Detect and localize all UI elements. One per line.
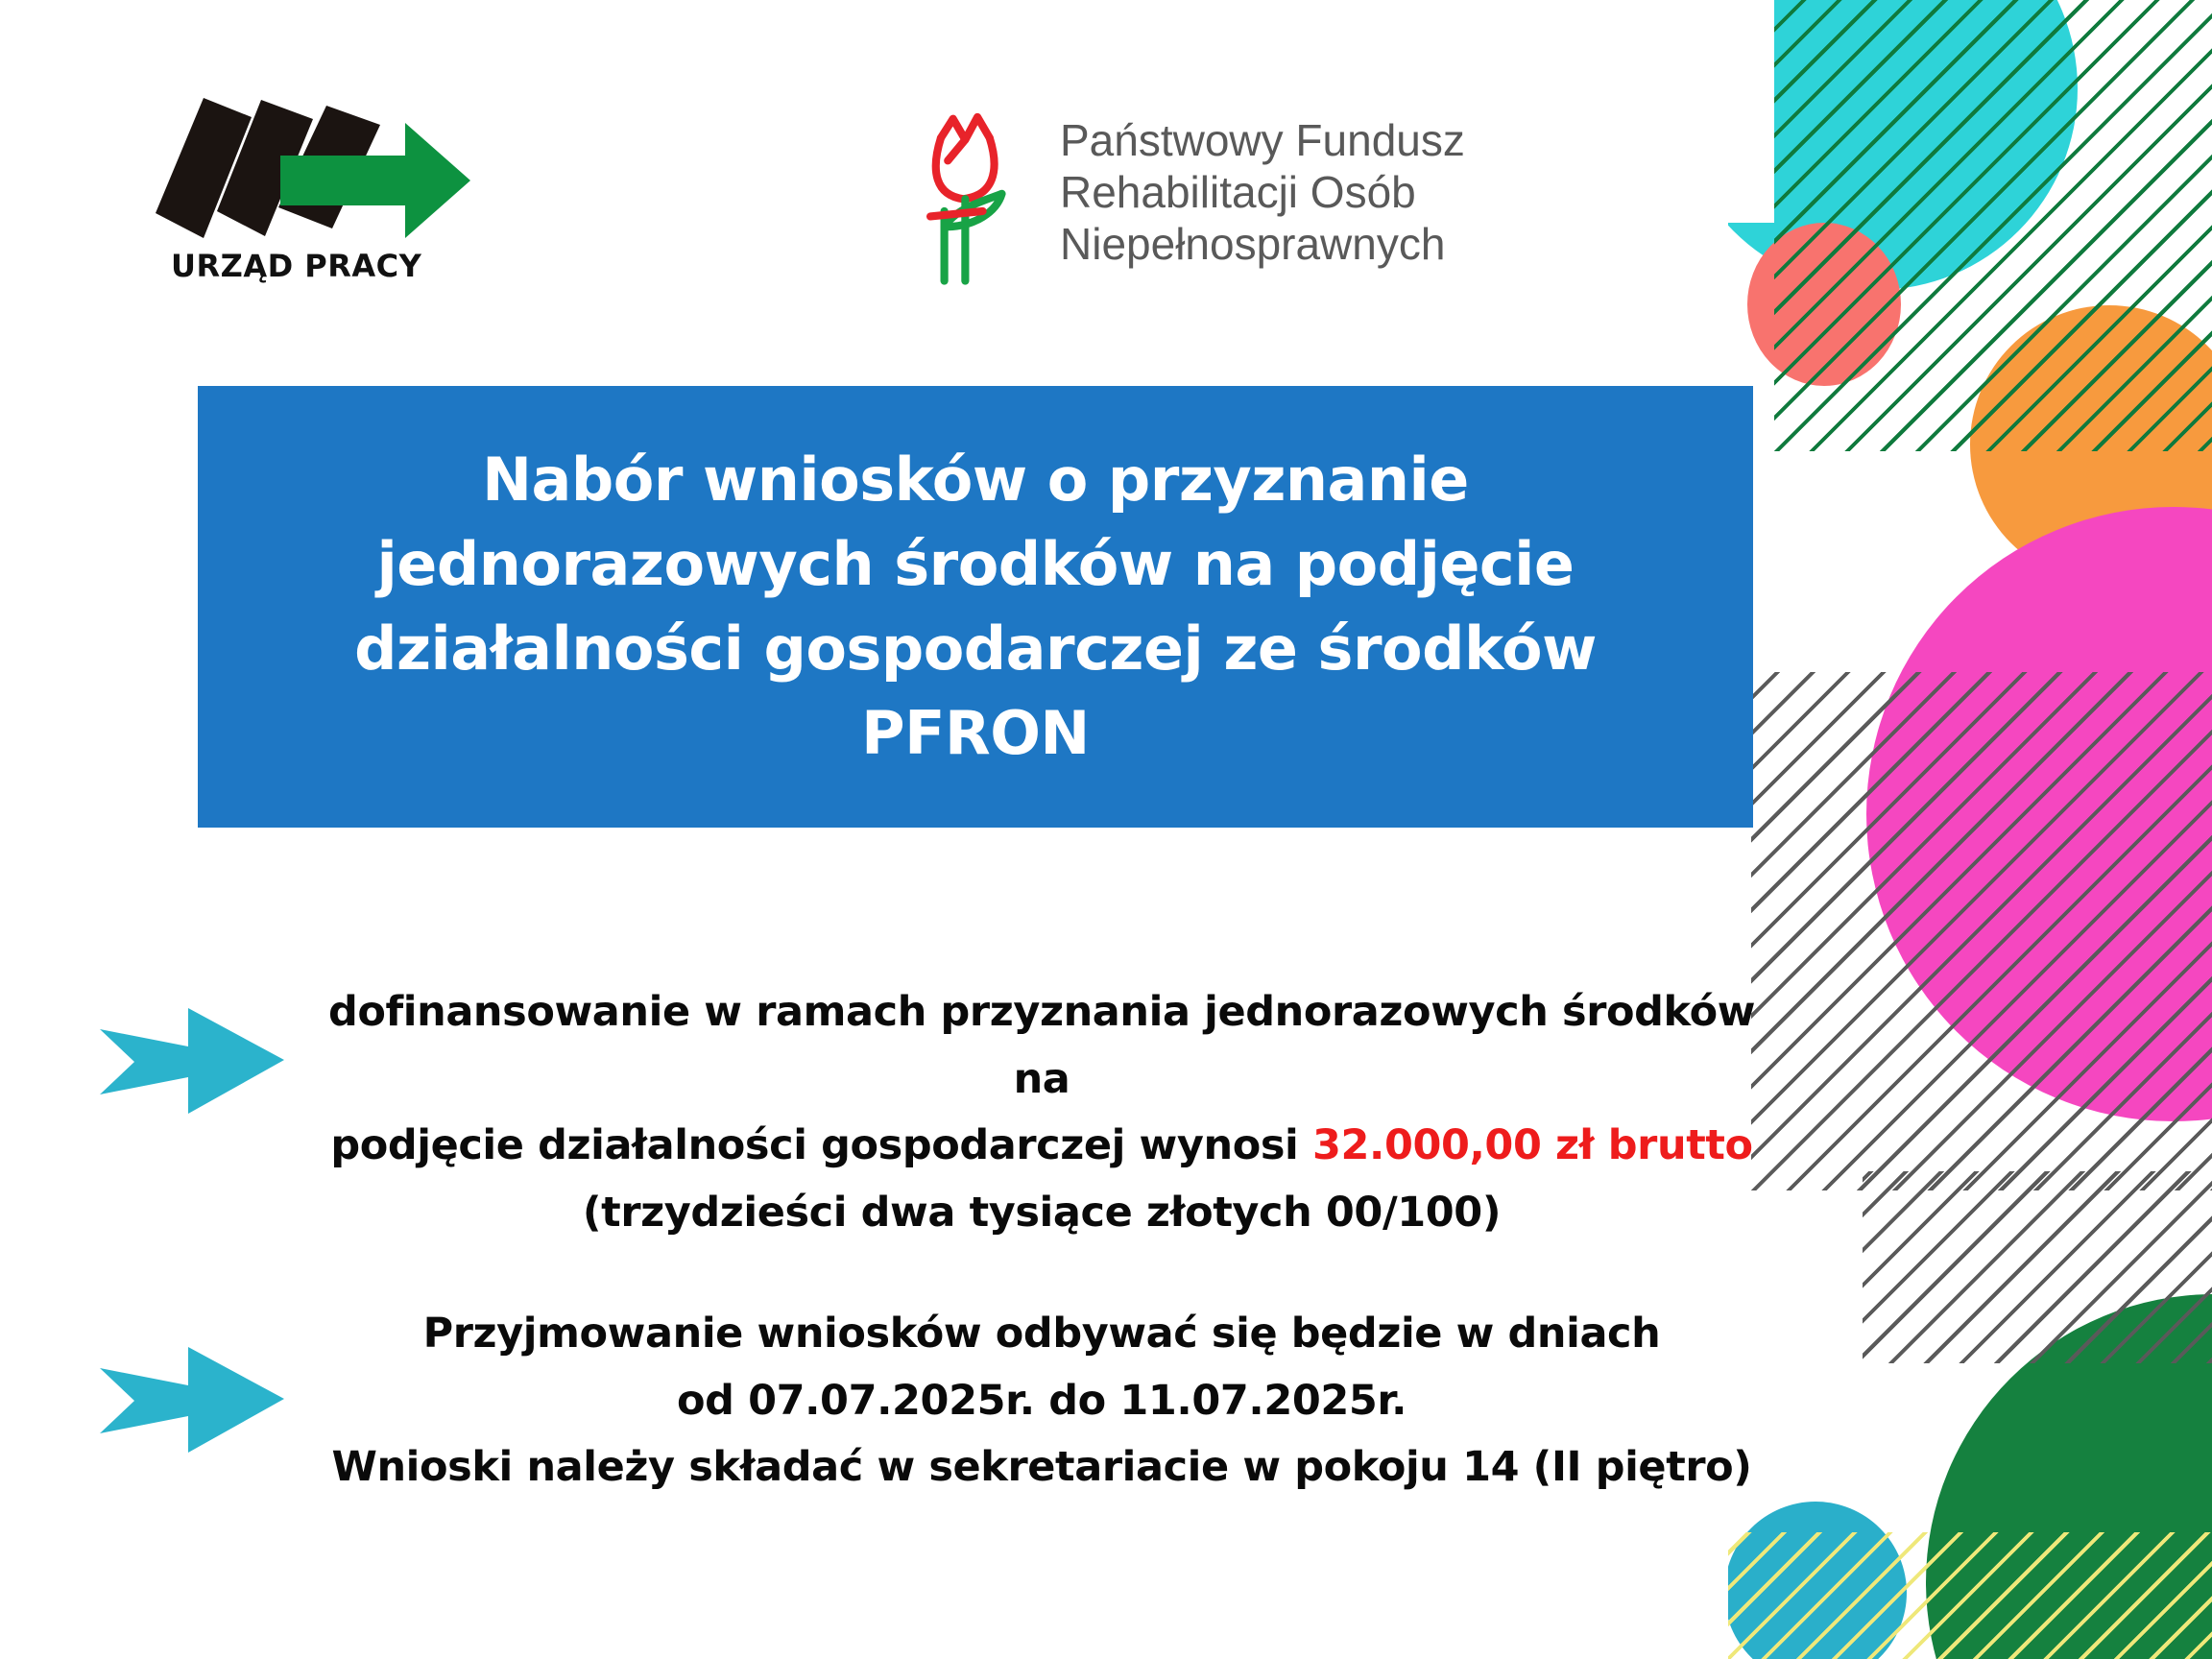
funding-amount-text: dofinansowanie w ramach przyznania jedno…: [317, 979, 1767, 1247]
orange-circle-decoration: [1970, 305, 2212, 584]
green-circle-decoration: [1926, 1294, 2212, 1659]
pfron-logo: Państwowy Fundusz Rehabilitacji Osób Nie…: [922, 86, 1517, 298]
green-hatch-decoration: [1774, 0, 2212, 451]
coral-circle-decoration: [1747, 223, 1901, 386]
grey-hatch-lower-decoration: [1863, 1171, 2212, 1363]
pfron-tulip-icon: [922, 96, 1035, 288]
submission-dates-text: Przyjmowanie wniosków odbywać się będzie…: [317, 1301, 1767, 1502]
yellow-hatch-decoration: [1728, 1532, 2212, 1659]
arrow-icon-1-wrapper: [96, 979, 317, 1124]
svg-text:URZĄD PRACY: URZĄD PRACY: [171, 248, 422, 284]
funding-amount-block: dofinansowanie w ramach przyznania jedno…: [96, 979, 1767, 1247]
funding-line-1: dofinansowanie w ramach przyznania jedno…: [328, 988, 1755, 1103]
funding-line-3: (trzydzieści dwa tysiące złotych 00/100): [583, 1189, 1501, 1237]
teal-circle-decoration: [1724, 1502, 1907, 1659]
grey-hatch-decoration: [1751, 672, 2212, 1190]
funding-amount-value: 32.000,00 zł brutto: [1312, 1121, 1753, 1169]
announcement-banner: Nabór wniosków o przyznanie jednorazowyc…: [198, 386, 1753, 828]
page-title: Nabór wniosków o przyznanie jednorazowyc…: [284, 438, 1667, 776]
pfron-logo-text: Państwowy Fundusz Rehabilitacji Osób Nie…: [1060, 114, 1465, 271]
dates-line-1: Przyjmowanie wniosków odbywać się będzie…: [423, 1310, 1661, 1358]
urzad-pracy-logo-icon: URZĄD PRACY: [144, 77, 490, 288]
right-arrow-icon: [96, 1343, 288, 1458]
magenta-circle-decoration: [1866, 507, 2212, 1121]
cyan-circle-decoration: [1674, 0, 2078, 290]
arrow-icon-2-wrapper: [96, 1301, 317, 1463]
dates-line-3: Wnioski należy składać w sekretariacie w…: [331, 1443, 1751, 1491]
dates-line-2: od 07.07.2025r. do 11.07.2025r.: [677, 1377, 1407, 1425]
urzad-pracy-logo: URZĄD PRACY: [144, 77, 490, 288]
submission-dates-block: Przyjmowanie wniosków odbywać się będzie…: [96, 1301, 1767, 1502]
right-arrow-icon: [96, 1004, 288, 1119]
poster-canvas: URZĄD PRACY Państwowy Fundusz Rehabilita…: [0, 0, 2212, 1659]
funding-line-2-prefix: podjęcie działalności gospodarczej wynos…: [330, 1121, 1312, 1169]
